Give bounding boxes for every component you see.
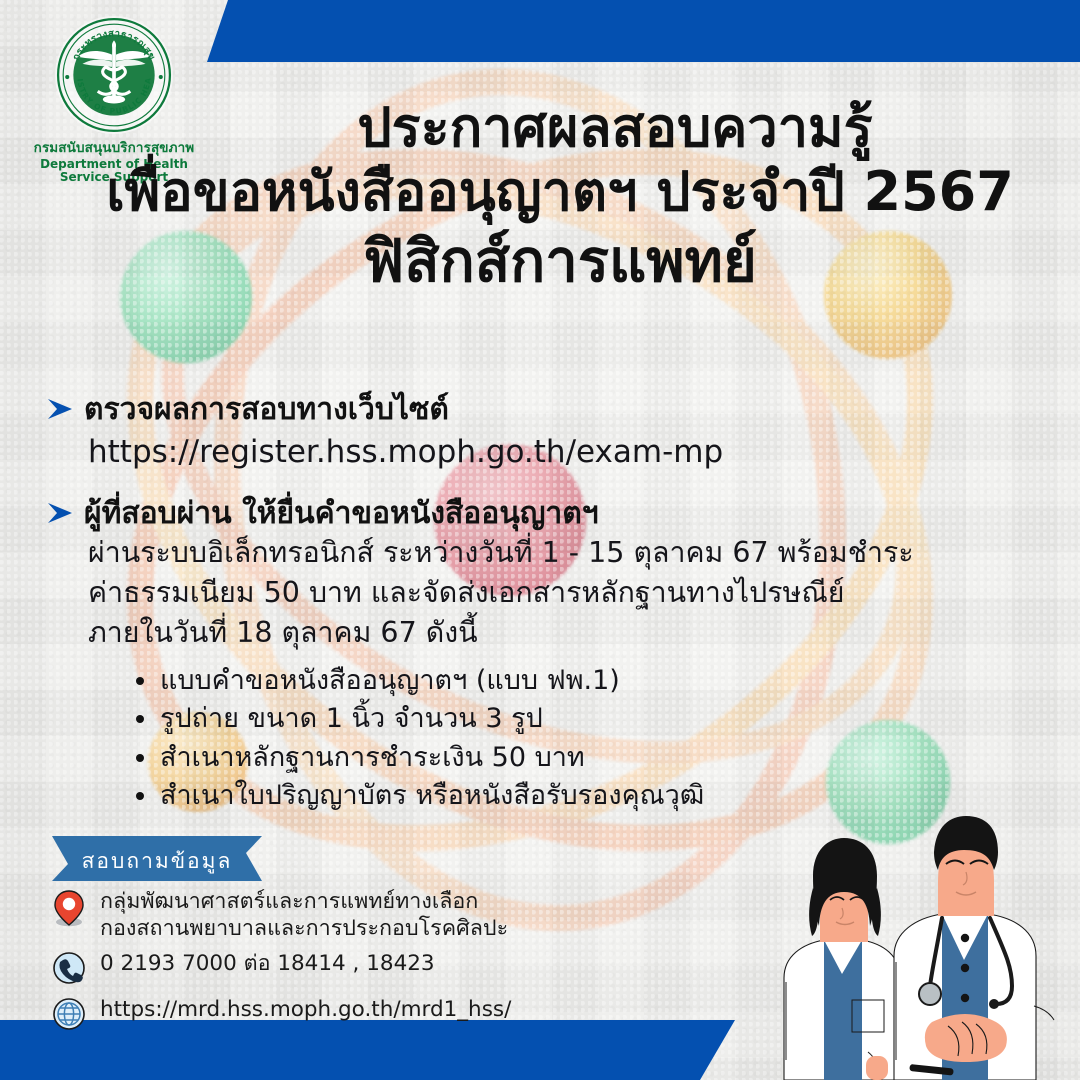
poster: กระทรวงสาธารณสุข MINISTRY OF PUBLIC HEAL…: [0, 0, 1080, 1080]
website-text[interactable]: https://mrd.hss.moph.go.th/mrd1_hss/: [100, 994, 511, 1023]
list-item: สำเนาใบปริญญาบัตร หรือหนังสือรับรองคุณวุ…: [134, 777, 966, 815]
required-documents-list: แบบคำขอหนังสืออนุญาตฯ (แบบ ฟพ.1) รูปถ่าย…: [134, 662, 966, 815]
location-pin-icon: [50, 888, 88, 928]
headline-line-3: ฟิสิกส์การแพทย์: [0, 227, 1080, 297]
contact-ribbon: สอบถามข้อมูล: [52, 836, 262, 890]
phone-text[interactable]: 0 2193 7000 ต่อ 18414 , 18423: [100, 948, 435, 977]
address-line-2: กองสถานพยาบาลและการประกอบโรคศิลปะ: [100, 915, 508, 942]
exam-results-url[interactable]: https://register.hss.moph.go.th/exam-mp: [88, 433, 966, 472]
section-2-heading: ผู้ที่สอบผ่าน ให้ยื่นคำขอหนังสืออนุญาตฯ: [84, 496, 599, 533]
page-title: ประกาศผลสอบความรู้ เพื่อขอหนังสืออนุญาตฯ…: [0, 96, 1080, 297]
contact-details: กลุ่มพัฒนาศาสตร์และการแพทย์ทางเลือก กองส…: [50, 888, 670, 1040]
list-item: รูปถ่าย ขนาด 1 นิ้ว จำนวน 3 รูป: [134, 700, 966, 738]
address-line-1: กลุ่มพัฒนาศาสตร์และการแพทย์ทางเลือก: [100, 888, 508, 915]
phone-icon: [50, 948, 88, 988]
contact-ribbon-label: สอบถามข้อมูล: [52, 836, 262, 886]
headline-line-2: เพื่อขอหนังสืออนุญาตฯ ประจำปี 2567: [0, 160, 1080, 224]
address-text: กลุ่มพัฒนาศาสตร์และการแพทย์ทางเลือก กองส…: [100, 888, 508, 942]
body-content: ตรวจผลการสอบทางเว็บไซต์ https://register…: [46, 392, 966, 815]
chevron-right-icon: [46, 398, 74, 420]
section-apply-license: ผู้ที่สอบผ่าน ให้ยื่นคำขอหนังสืออนุญาตฯ: [46, 496, 966, 533]
section-check-results: ตรวจผลการสอบทางเว็บไซต์: [46, 392, 966, 429]
contact-phone-row: 0 2193 7000 ต่อ 18414 , 18423: [50, 948, 670, 988]
list-item: แบบคำขอหนังสืออนุญาตฯ (แบบ ฟพ.1): [134, 662, 966, 700]
instruction-line-1: ผ่านระบบอิเล็กทรอนิกส์ ระหว่างวันที่ 1 -…: [88, 534, 966, 572]
contact-website-row: https://mrd.hss.moph.go.th/mrd1_hss/: [50, 994, 670, 1034]
section-1-heading: ตรวจผลการสอบทางเว็บไซต์: [84, 392, 449, 429]
headline-line-1: ประกาศผลสอบความรู้: [0, 96, 1080, 160]
instruction-line-3: ภายในวันที่ 18 ตุลาคม 67 ดังนี้: [88, 614, 966, 652]
instruction-line-2: ค่าธรรมเนียม 50 บาท และจัดส่งเอกสารหลักฐ…: [88, 574, 966, 612]
list-item: สำเนาหลักฐานการชำระเงิน 50 บาท: [134, 739, 966, 777]
contact-address-row: กลุ่มพัฒนาศาสตร์และการแพทย์ทางเลือก กองส…: [50, 888, 670, 942]
globe-icon: [50, 994, 88, 1034]
chevron-right-icon: [46, 502, 74, 524]
